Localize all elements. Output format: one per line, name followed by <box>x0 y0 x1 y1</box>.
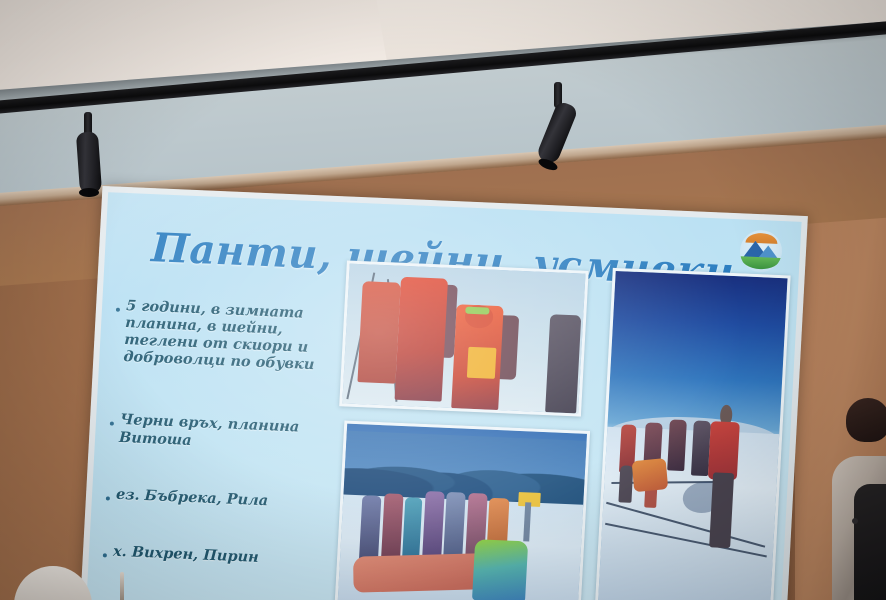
bullet-text: х. Вихрен, Пирин <box>113 543 260 566</box>
bullet-dot-icon <box>106 496 110 500</box>
bullet-text: Черни връх, планина Витоша <box>119 411 353 455</box>
person-legs <box>710 473 735 549</box>
photo-group-forest <box>335 421 591 600</box>
logo-green-band <box>740 256 781 270</box>
list-item: ез. Бъбрека, Рила <box>106 485 349 512</box>
photo-skiers-ridge <box>339 260 589 416</box>
skier-figure <box>358 281 401 383</box>
organization-logo <box>739 229 783 273</box>
person-figure <box>359 496 382 561</box>
bullet-dot-icon <box>110 422 114 426</box>
slide-bullet-list: 5 години, в зимната планина, в шейни, те… <box>101 297 358 592</box>
bullet-text: ез. Бъбрека, Рила <box>116 485 269 509</box>
person-legs <box>619 465 633 503</box>
foreground-person <box>828 398 886 600</box>
bullet-dot-icon <box>103 553 107 557</box>
person-figure <box>422 491 445 563</box>
list-item: 5 години, в зимната планина, в шейни, те… <box>113 297 358 376</box>
stand-rod <box>120 572 124 600</box>
list-item: Черни връх, планина Витоша <box>109 411 353 456</box>
logo-disc <box>739 229 783 273</box>
kneeling-person-figure <box>472 540 528 600</box>
projection-screen: Панти, шейни, усмивки 5 години, в зимнат… <box>104 158 816 600</box>
sledge <box>353 553 488 592</box>
list-item: х. Вихрен, Пирин <box>103 542 346 569</box>
safety-vest <box>467 347 497 379</box>
lead-person-figure <box>708 421 740 480</box>
bullet-dot-icon <box>116 308 120 312</box>
spotlight-head <box>76 131 102 194</box>
ski-goggles <box>465 306 489 314</box>
spotlight-lens <box>79 188 99 197</box>
skier-figure <box>394 277 448 402</box>
presentation-slide: Панти, шейни, усмивки 5 години, в зимнат… <box>86 192 802 600</box>
person-hair <box>846 398 886 442</box>
photo-sled-team <box>594 268 790 600</box>
photo-scene: Панти, шейни, усмивки 5 години, в зимнат… <box>0 0 886 600</box>
photo-sky <box>607 271 787 438</box>
person-figure <box>381 493 404 561</box>
sledge <box>631 458 668 492</box>
skier-figure <box>545 314 581 413</box>
person-clip <box>852 518 858 524</box>
bullet-text: 5 години, в зимната планина, в шейни, те… <box>123 297 358 375</box>
person-torso <box>854 484 886 600</box>
person-figure <box>667 420 687 472</box>
